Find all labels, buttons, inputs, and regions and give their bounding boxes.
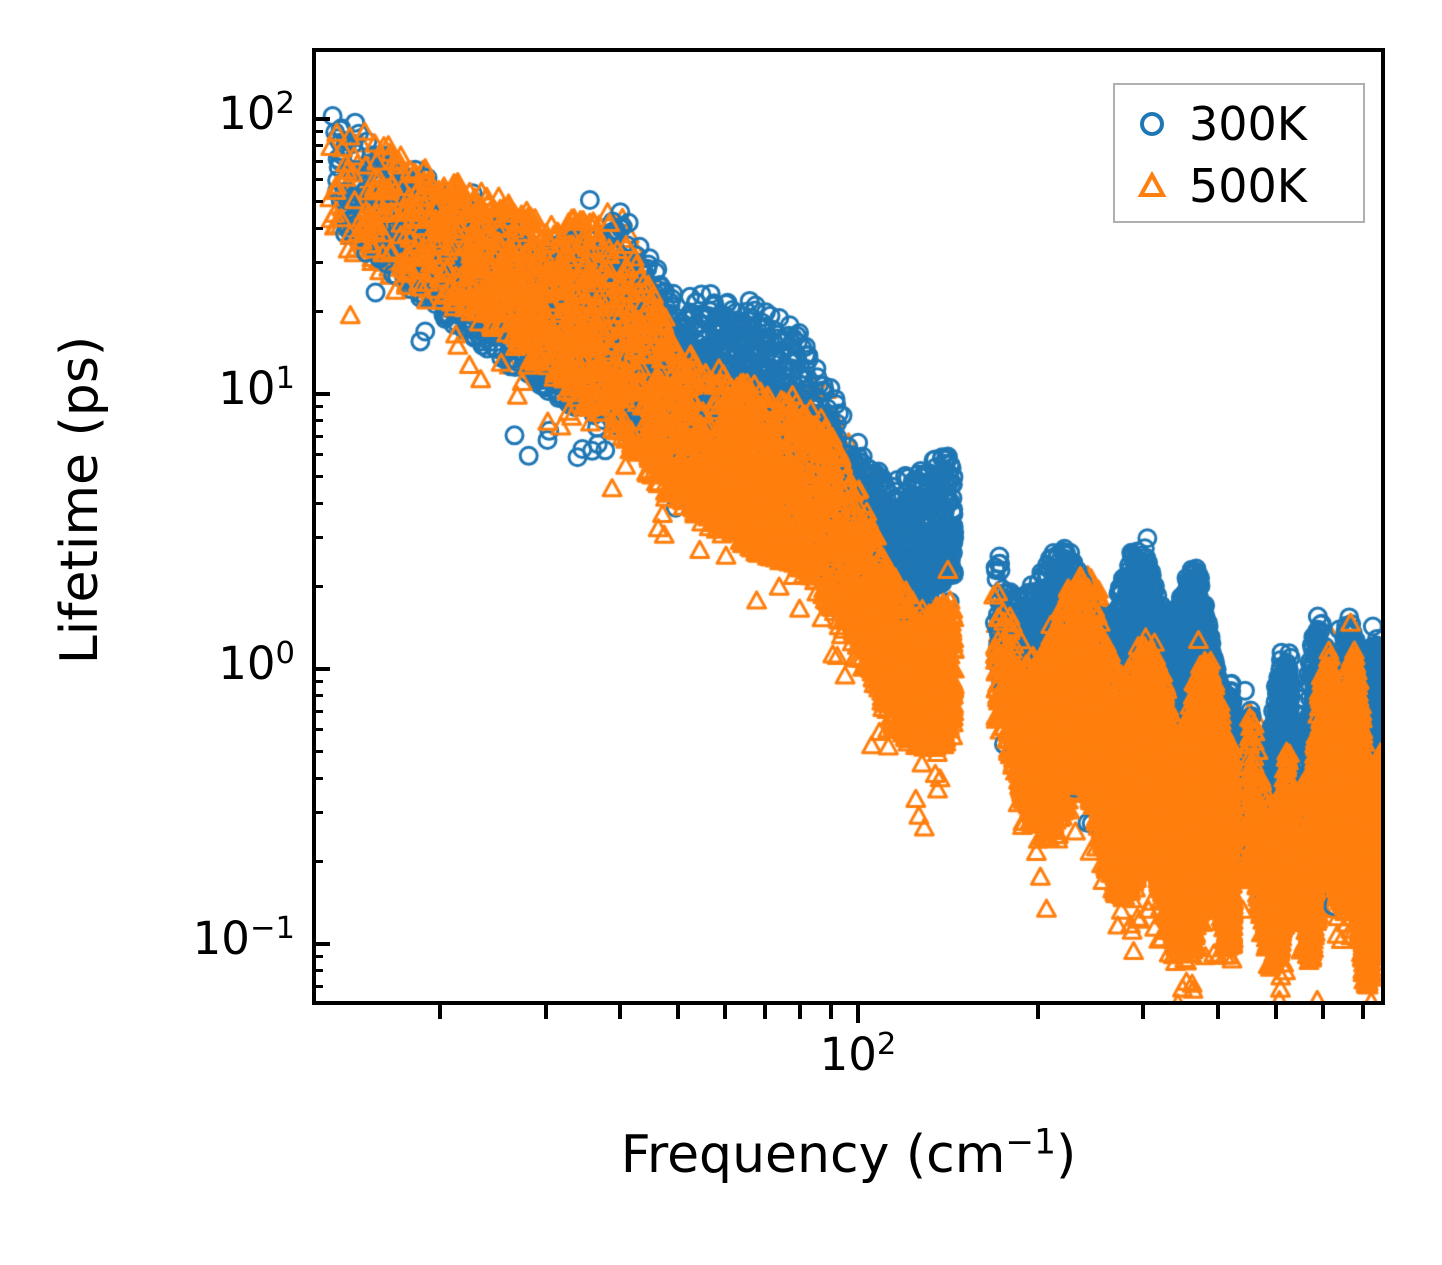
- legend-entry-300k[interactable]: 300K: [1115, 93, 1363, 155]
- y-tick-minor: [312, 585, 323, 588]
- y-tick-minor: [312, 694, 323, 697]
- triangle-open-icon: [1115, 169, 1189, 203]
- y-tick-minor: [312, 750, 323, 753]
- y-tick-minor: [312, 453, 323, 456]
- x-axis-title: Frequency (cm−1): [312, 1125, 1385, 1185]
- x-tick-minor: [1361, 1005, 1365, 1019]
- x-tick-minor: [1216, 1005, 1220, 1019]
- y-tick-minor: [312, 310, 323, 313]
- phonon-lifetime-figure: 300K 500K Frequency (cm−1) Lifetime (ps)…: [0, 0, 1442, 1265]
- y-tick-minor: [312, 680, 323, 683]
- y-tick-minor: [312, 435, 323, 438]
- x-tick-label: 102: [820, 1028, 897, 1081]
- x-axis-title-exponent: −1: [1005, 1123, 1056, 1163]
- y-tick-minor: [312, 969, 323, 972]
- y-tick-minor: [312, 777, 323, 780]
- x-axis-title-base: Frequency (cm: [621, 1125, 1006, 1185]
- x-axis-title-tail: ): [1056, 1125, 1076, 1185]
- y-tick-label: 102: [218, 87, 295, 140]
- legend: 300K 500K: [1113, 83, 1365, 223]
- y-tick-minor: [312, 860, 323, 863]
- y-tick-label: 10−1: [193, 912, 295, 965]
- y-tick-minor: [312, 811, 323, 814]
- x-tick-minor: [829, 1005, 833, 1019]
- y-tick-minor: [312, 536, 323, 539]
- x-tick-minor: [1321, 1005, 1325, 1019]
- legend-label-300k: 300K: [1189, 97, 1307, 151]
- y-axis-title: Lifetime (ps): [50, 20, 110, 980]
- x-tick-minor: [544, 1005, 548, 1019]
- y-tick-minor: [312, 419, 323, 422]
- x-tick-minor: [723, 1005, 727, 1019]
- y-tick-minor: [312, 475, 323, 478]
- y-tick-minor: [312, 955, 323, 958]
- y-tick-label: 101: [218, 362, 295, 415]
- x-tick-minor: [1141, 1005, 1145, 1019]
- x-tick-minor: [618, 1005, 622, 1019]
- y-tick-major: [312, 117, 330, 121]
- x-tick-minor: [1274, 1005, 1278, 1019]
- y-tick-major: [312, 392, 330, 396]
- y-tick-major: [312, 667, 330, 671]
- x-tick-minor: [763, 1005, 767, 1019]
- y-tick-minor: [312, 160, 323, 163]
- x-tick-minor: [798, 1005, 802, 1019]
- x-tick-minor: [676, 1005, 680, 1019]
- y-tick-minor: [312, 130, 323, 133]
- y-tick-minor: [312, 200, 323, 203]
- y-tick-minor: [312, 227, 323, 230]
- y-tick-minor: [312, 728, 323, 731]
- y-tick-label: 100: [218, 637, 295, 690]
- circle-open-icon: [1115, 107, 1189, 141]
- y-tick-minor: [312, 502, 323, 505]
- y-tick-minor: [312, 178, 323, 181]
- legend-entry-500k[interactable]: 500K: [1115, 155, 1363, 217]
- y-tick-minor: [312, 144, 323, 147]
- y-tick-minor: [312, 985, 323, 988]
- y-tick-minor: [312, 405, 323, 408]
- y-tick-minor: [312, 261, 323, 264]
- x-tick-minor: [1036, 1005, 1040, 1019]
- y-tick-minor: [312, 710, 323, 713]
- x-tick-minor: [438, 1005, 442, 1019]
- x-tick-major: [856, 1001, 860, 1023]
- y-tick-major: [312, 942, 330, 946]
- legend-label-500k: 500K: [1189, 159, 1307, 213]
